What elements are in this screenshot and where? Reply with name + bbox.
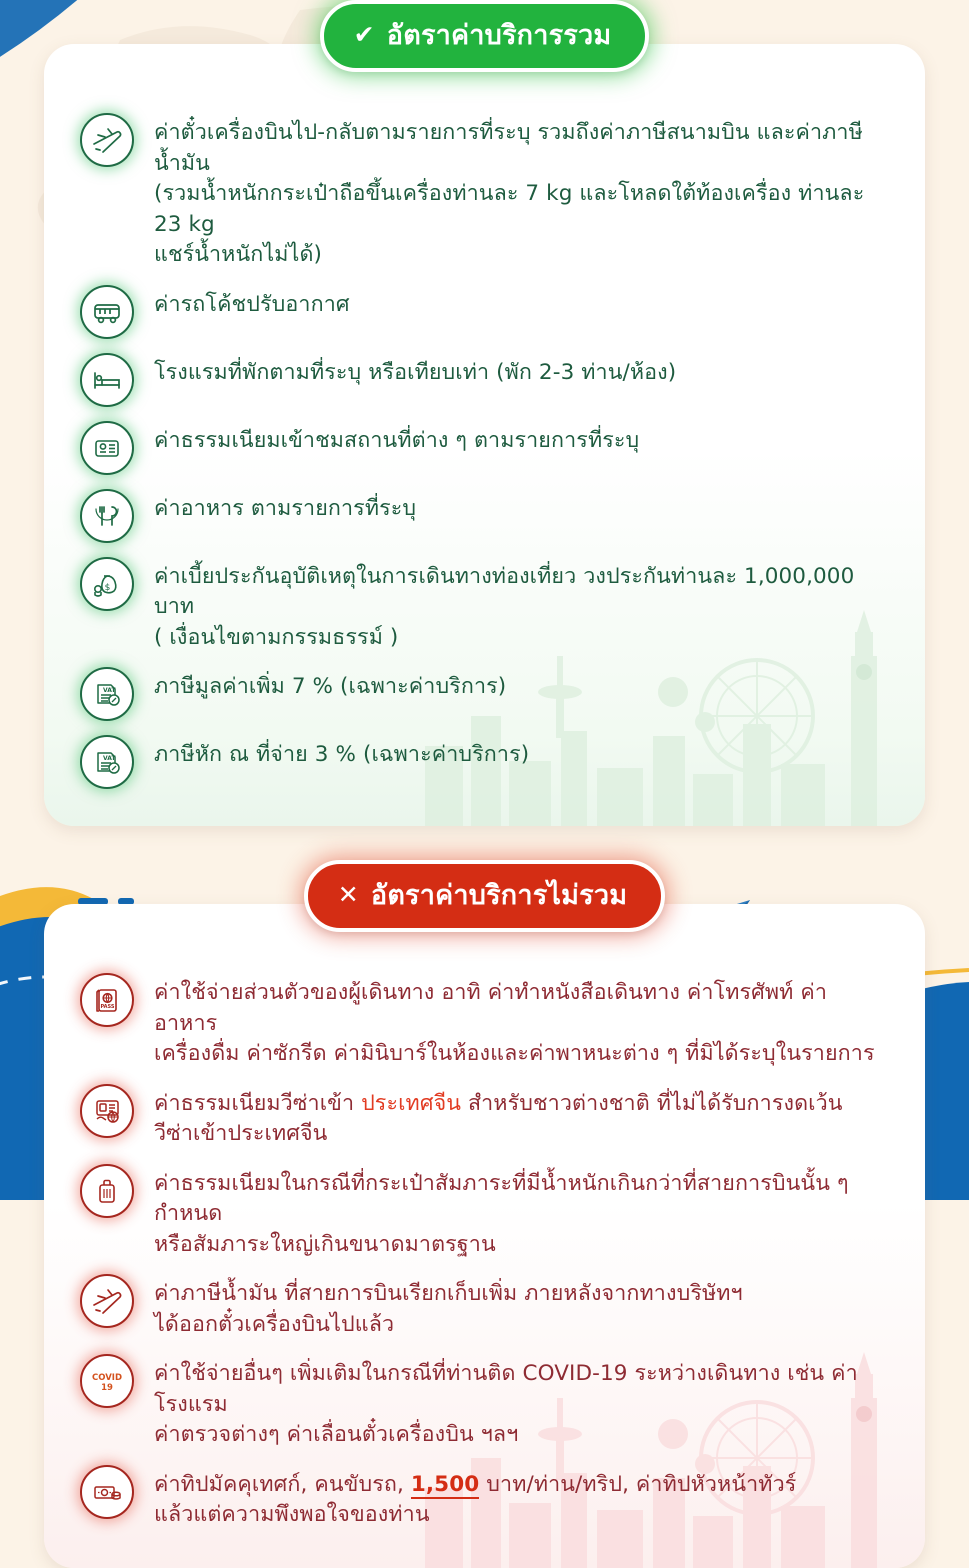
list-item-text: ค่ารถโค้ชปรับอากาศ xyxy=(154,285,350,321)
no-airplane-icon xyxy=(80,1274,134,1328)
covid-19-icon: COVID 19 xyxy=(80,1354,134,1408)
svg-text:19: 19 xyxy=(101,1383,113,1393)
list-item-text: โรงแรมที่พักตามที่ระบุ หรือเทียบเท่า (พั… xyxy=(154,353,676,389)
cutlery-icon xyxy=(80,489,134,543)
excluded-list: PASS ค่าใช้จ่ายส่วนตัวของผู้เดินทาง อาทิ… xyxy=(80,966,889,1538)
list-item: $ ค่าเบี้ยประกันอุบัติเหตุในการเดินทางท่… xyxy=(80,550,889,661)
included-badge-wrapper: ✔ อัตราค่าบริการรวม xyxy=(44,0,925,72)
check-icon: ✔ xyxy=(354,22,375,47)
tip-text-a: ค่าทิปมัคคุเทศก์, คนขับรถ, xyxy=(154,1472,411,1497)
passport-icon: PASS xyxy=(80,973,134,1027)
suitcase-icon xyxy=(80,1164,134,1218)
list-item-text: ค่าภาษีน้ำมัน ที่สายการบินเรียกเก็บเพิ่ม… xyxy=(154,1274,743,1340)
list-item-text: ค่าตั๋วเครื่องบินไป-กลับตามรายการที่ระบุ… xyxy=(154,113,889,271)
list-item-text: ค่าธรรมเนียมเข้าชมสถานที่ต่าง ๆ ตามรายกา… xyxy=(154,421,639,457)
included-list: ค่าตั๋วเครื่องบินไป-กลับตามรายการที่ระบุ… xyxy=(80,106,889,796)
tip-amount: 1,500 xyxy=(411,1472,480,1499)
excluded-section-badge: ✕ อัตราค่าบริการไม่รวม xyxy=(304,860,665,932)
svg-text:$: $ xyxy=(105,583,111,593)
svg-text:PASS: PASS xyxy=(100,1004,114,1010)
list-item: ค่าตั๋วเครื่องบินไป-กลับตามรายการที่ระบุ… xyxy=(80,106,889,278)
visa-text-a: ค่าธรรมเนียมวีซ่าเข้า xyxy=(154,1091,361,1116)
excluded-badge-wrapper: ✕ อัตราค่าบริการไม่รวม xyxy=(44,860,925,932)
list-item-text: ค่าใช้จ่ายส่วนตัวของผู้เดินทาง อาทิ ค่าท… xyxy=(154,973,889,1070)
list-item: COVID 19 ค่าใช้จ่ายอื่นๆ เพิ่มเติมในกรณี… xyxy=(80,1347,889,1458)
list-item-text: ภาษีหัก ณ ที่จ่าย 3 % (เฉพาะค่าบริการ) xyxy=(154,735,529,771)
list-item: VAT ภาษีหัก ณ ที่จ่าย 3 % (เฉพาะค่าบริกา… xyxy=(80,728,889,796)
banknote-icon xyxy=(80,1465,134,1519)
visa-icon xyxy=(80,1084,134,1138)
list-item-text: ค่าธรรมเนียมวีซ่าเข้า ประเทศจีน สำหรับชา… xyxy=(154,1084,843,1150)
visa-country-highlight: ประเทศจีน xyxy=(361,1091,461,1116)
list-item: ค่าทิปมัคคุเทศก์, คนขับรถ, 1,500 บาท/ท่า… xyxy=(80,1458,889,1538)
bus-icon xyxy=(80,285,134,339)
excluded-card: PASS ค่าใช้จ่ายส่วนตัวของผู้เดินทาง อาทิ… xyxy=(44,904,925,1568)
withholding-tax-icon: VAT xyxy=(80,735,134,789)
list-item: ค่าภาษีน้ำมัน ที่สายการบินเรียกเก็บเพิ่ม… xyxy=(80,1267,889,1347)
list-item: โรงแรมที่พักตามที่ระบุ หรือเทียบเท่า (พั… xyxy=(80,346,889,414)
list-item: ค่าอาหาร ตามรายการที่ระบุ xyxy=(80,482,889,550)
close-icon: ✕ xyxy=(338,882,359,907)
list-item: PASS ค่าใช้จ่ายส่วนตัวของผู้เดินทาง อาทิ… xyxy=(80,966,889,1077)
list-item: ค่าธรรมเนียมเข้าชมสถานที่ต่าง ๆ ตามรายกา… xyxy=(80,414,889,482)
list-item: VAT ภาษีมูลค่าเพิ่ม 7 % (เฉพาะค่าบริการ) xyxy=(80,660,889,728)
included-card: ค่าตั๋วเครื่องบินไป-กลับตามรายการที่ระบุ… xyxy=(44,44,925,826)
svg-text:VAT: VAT xyxy=(103,687,116,694)
list-item: ค่าธรรมเนียมในกรณีที่กระเป๋าสัมภาระที่มี… xyxy=(80,1157,889,1268)
included-badge-label: อัตราค่าบริการรวม xyxy=(387,13,612,56)
list-item-text: ค่าธรรมเนียมในกรณีที่กระเป๋าสัมภาระที่มี… xyxy=(154,1164,889,1261)
excluded-badge-label: อัตราค่าบริการไม่รวม xyxy=(371,873,627,916)
list-item-text: ค่าเบี้ยประกันอุบัติเหตุในการเดินทางท่อง… xyxy=(154,557,889,654)
list-item: ค่าธรรมเนียมวีซ่าเข้า ประเทศจีน สำหรับชา… xyxy=(80,1077,889,1157)
ticket-icon xyxy=(80,421,134,475)
list-item-text: ค่าทิปมัคคุเทศก์, คนขับรถ, 1,500 บาท/ท่า… xyxy=(154,1465,796,1531)
svg-text:COVID: COVID xyxy=(92,1373,122,1383)
list-item-text: ค่าอาหาร ตามรายการที่ระบุ xyxy=(154,489,416,525)
list-item-text: ค่าใช้จ่ายอื่นๆ เพิ่มเติมในกรณีที่ท่านติ… xyxy=(154,1354,889,1451)
list-item: ค่ารถโค้ชปรับอากาศ xyxy=(80,278,889,346)
visa-text-b: สำหรับชาวต่างชาติ ที่ไม่ได้รับการงดเว้น xyxy=(461,1091,842,1116)
money-bag-icon: $ xyxy=(80,557,134,611)
tip-text-b: บาท/ท่าน/ทริป, ค่าทิปหัวหน้าทัวร์ xyxy=(479,1472,796,1497)
list-item-text: ภาษีมูลค่าเพิ่ม 7 % (เฉพาะค่าบริการ) xyxy=(154,667,506,703)
airplane-icon xyxy=(80,113,134,167)
vat-document-icon: VAT xyxy=(80,667,134,721)
svg-text:VAT: VAT xyxy=(103,755,116,762)
bed-icon xyxy=(80,353,134,407)
included-section-badge: ✔ อัตราค่าบริการรวม xyxy=(320,0,650,72)
